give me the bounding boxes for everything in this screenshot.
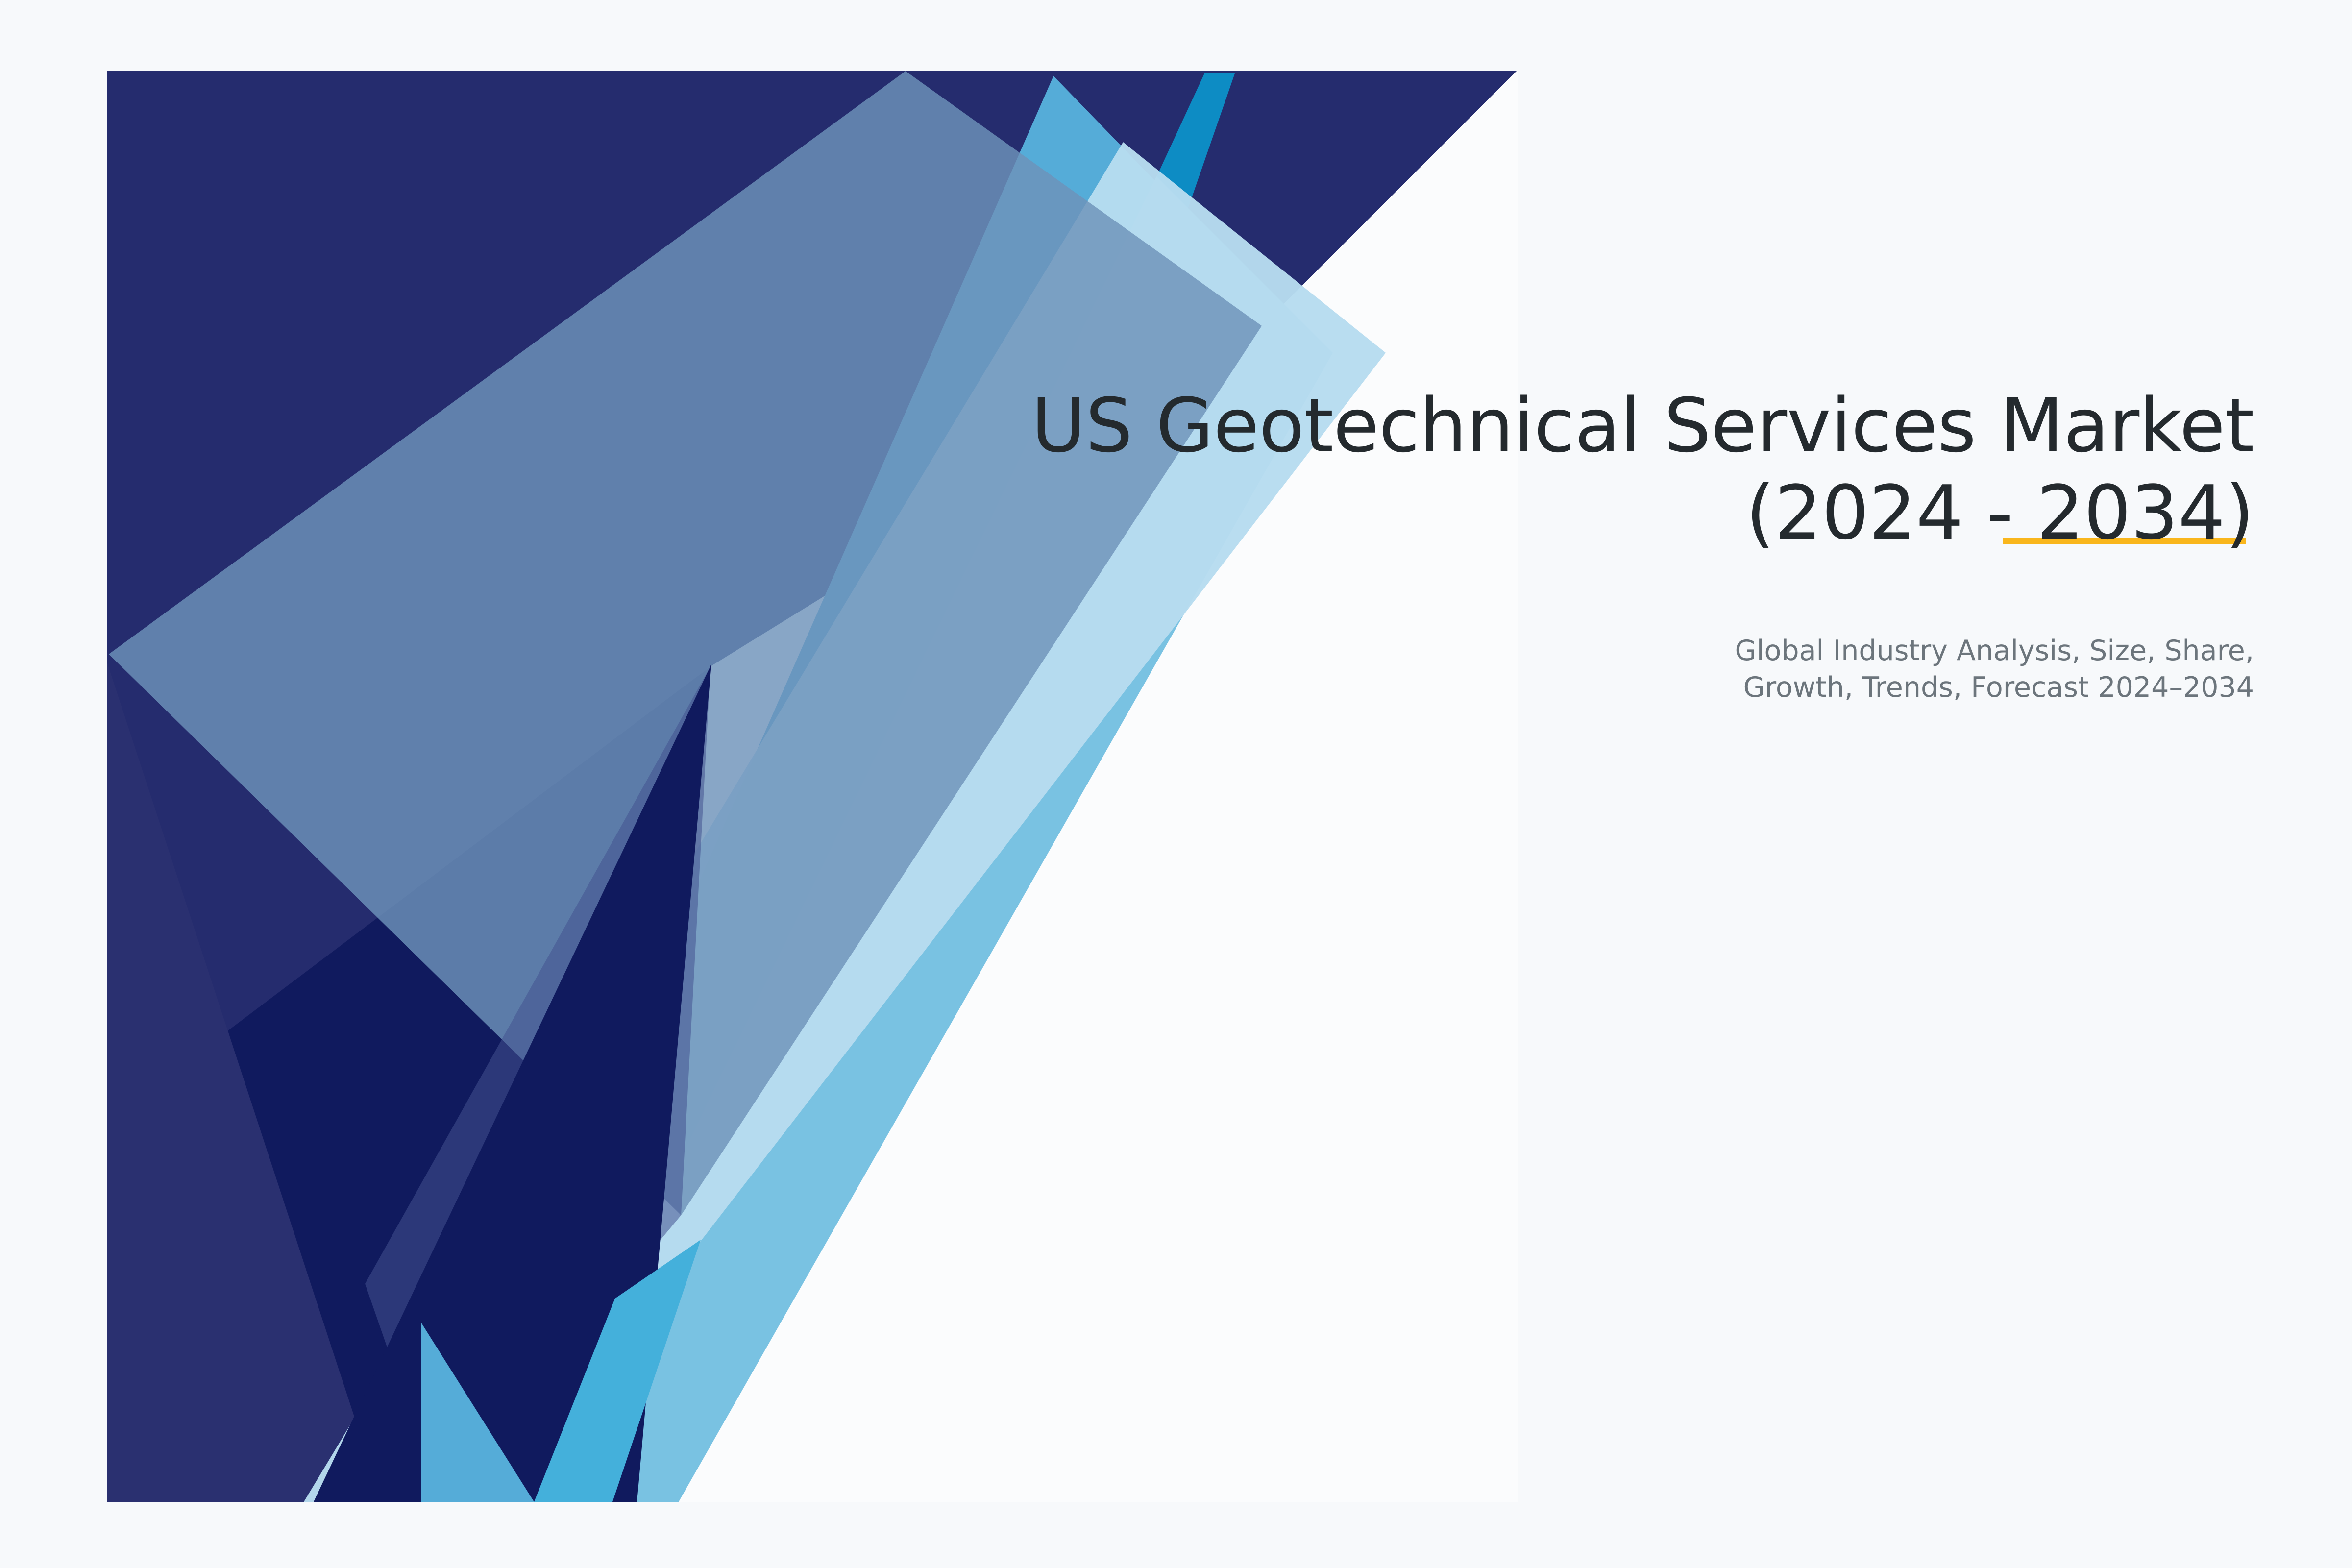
page-subtitle: Global Industry Analysis, Size, Share, G… [980, 633, 2254, 707]
cover-text-block: US Geotechnical Services Market (2024 - … [980, 382, 2254, 707]
title-wrap: US Geotechnical Services Market (2024 - … [980, 382, 2254, 557]
report-cover: US Geotechnical Services Market (2024 - … [0, 0, 2352, 1568]
page-title: US Geotechnical Services Market (2024 - … [980, 382, 2254, 557]
abstract-geometric-banner [0, 0, 2352, 1568]
